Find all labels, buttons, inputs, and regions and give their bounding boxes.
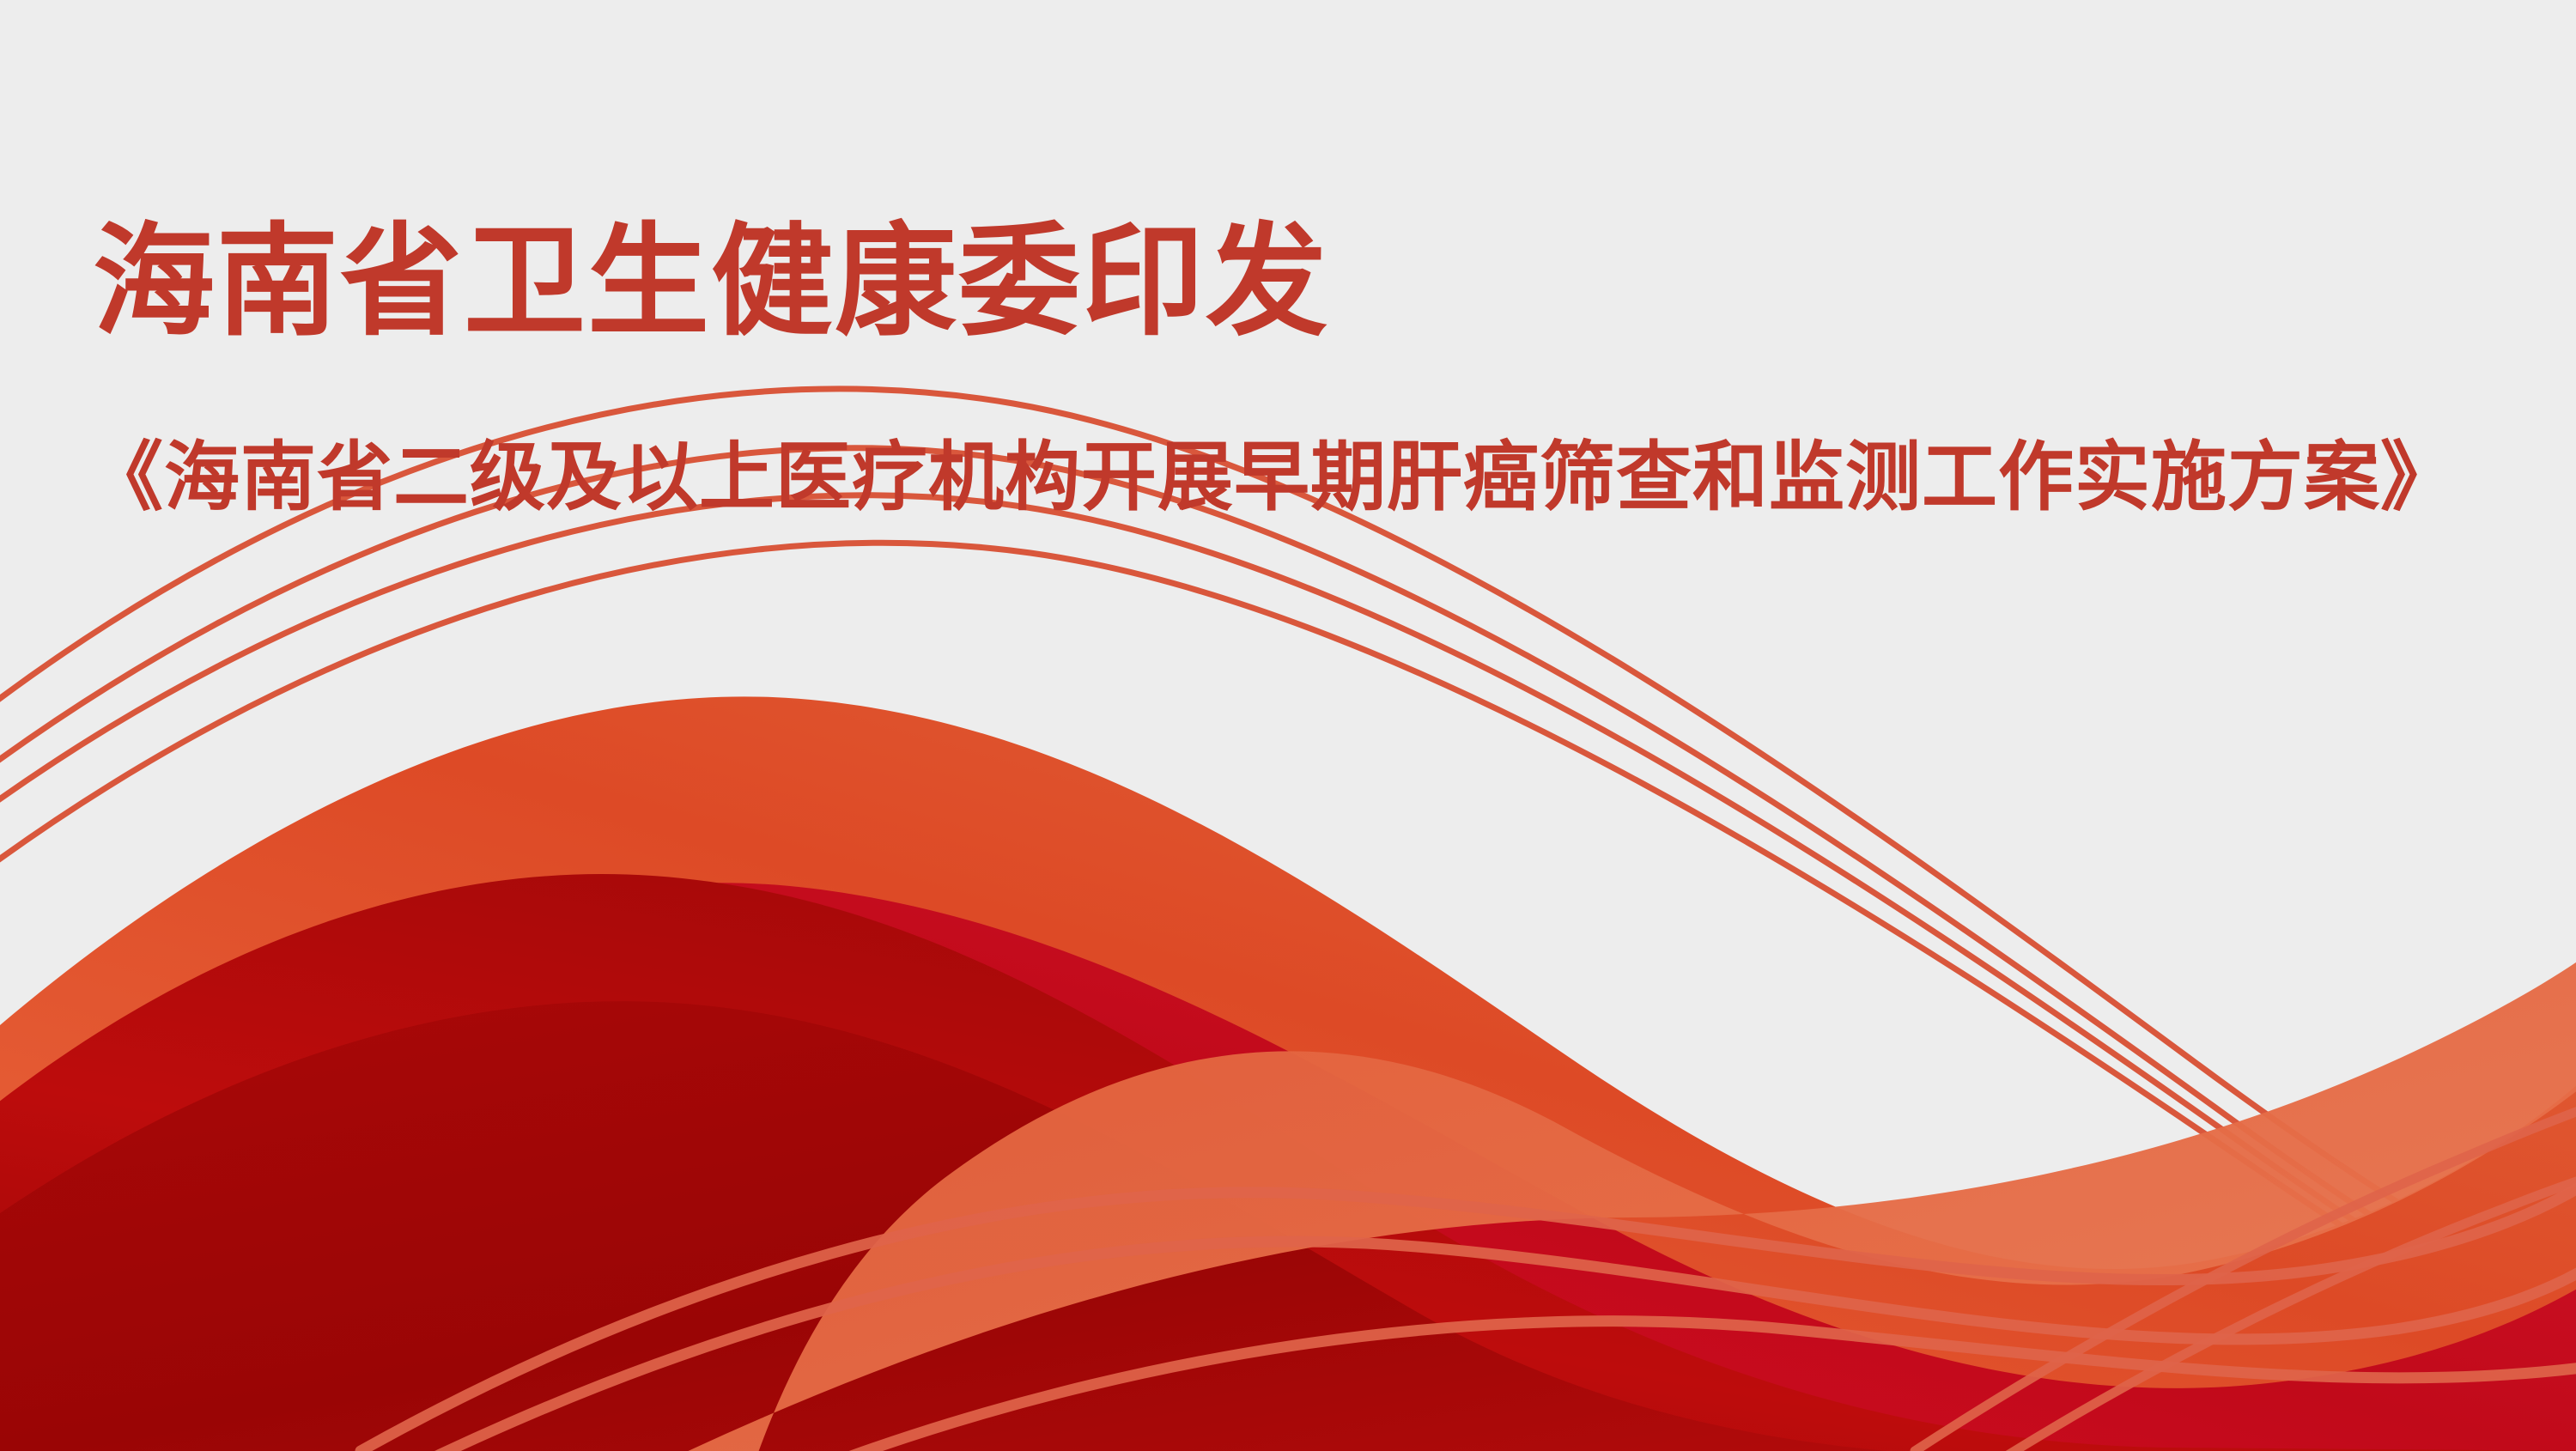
decorative-wave-graphic <box>0 0 2576 1451</box>
banner-root: 海南省卫生健康委印发 《海南省二级及以上医疗机构开展早期肝癌筛查和监测工作实施方… <box>0 0 2576 1451</box>
